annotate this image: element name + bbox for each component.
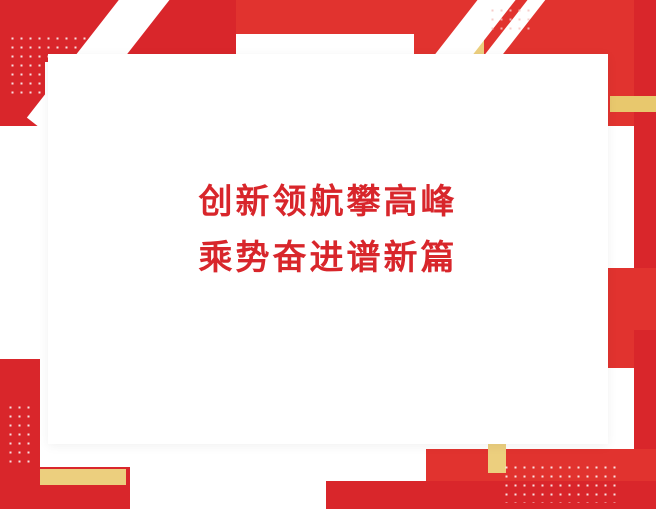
poster-title-line-2: 乘势奋进谱新篇: [48, 230, 608, 286]
poster-canvas: 创新领航攀高峰 乘势奋进谱新篇: [0, 0, 656, 509]
content-card: 创新领航攀高峰 乘势奋进谱新篇: [48, 54, 608, 444]
dot-pattern-top-right: [488, 6, 532, 36]
bottom-left-gold-accent: [40, 469, 126, 485]
poster-title-line-1: 创新领航攀高峰: [48, 174, 608, 230]
dot-pattern-bottom-left: [6, 403, 36, 465]
top-right-gold-accent: [610, 96, 656, 112]
poster-title: 创新领航攀高峰 乘势奋进谱新篇: [48, 174, 608, 286]
dot-pattern-bottom-right: [502, 463, 622, 503]
